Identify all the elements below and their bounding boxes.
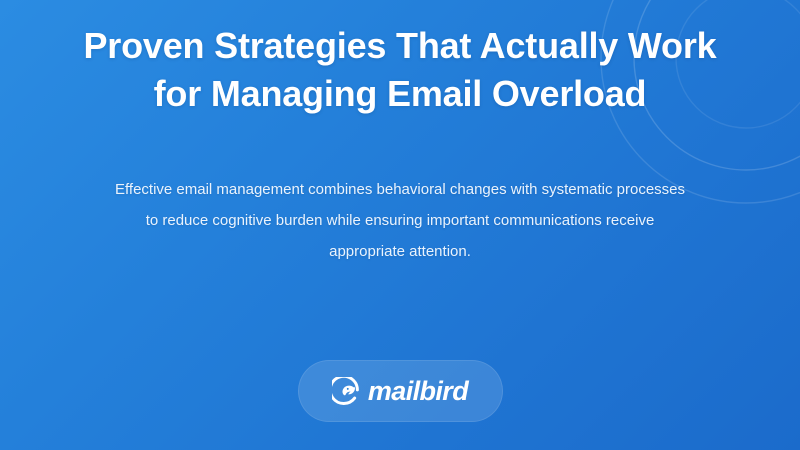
mailbird-brand-badge[interactable]: mailbird [298,360,503,422]
promo-slide: Proven Strategies That Actually Work for… [0,0,800,450]
mailbird-bird-icon [332,377,361,406]
brand-badge-container: mailbird [0,360,800,422]
brand-name-label: mailbird [368,376,468,407]
subtitle-text: Effective email management combines beha… [115,174,685,267]
page-title: Proven Strategies That Actually Work for… [80,22,720,118]
